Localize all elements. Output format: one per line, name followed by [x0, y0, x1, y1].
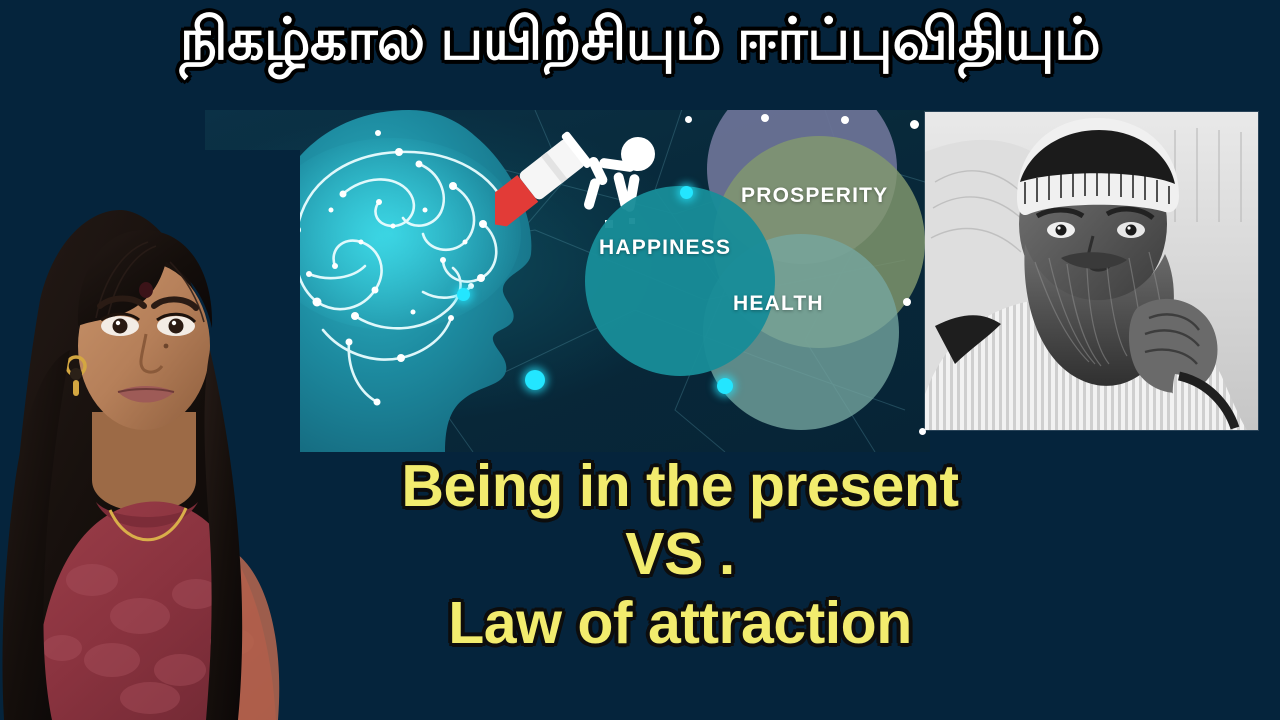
glow-dot [375, 130, 381, 136]
caption-line-3: Law of attraction [230, 589, 1130, 657]
illustration-panel: PROSPERITY HAPPINESS HEALTH [205, 110, 930, 452]
venn-label-happiness: HAPPINESS [599, 236, 731, 260]
venn-circle-happiness [585, 186, 775, 376]
venn-diagram: PROSPERITY HAPPINESS HEALTH [585, 110, 930, 452]
glow-dot [680, 186, 693, 199]
glow-dot [525, 370, 545, 390]
youtube-thumbnail: PROSPERITY HAPPINESS HEALTH [0, 0, 1280, 720]
glow-dot [457, 288, 470, 301]
osho-portrait-photo [925, 112, 1258, 430]
page-title-tamil: நிகழ்கால பயிற்சியும் ஈர்ப்புவிதியும் [0, 8, 1280, 72]
portrait-image [925, 112, 1258, 430]
glow-dot [761, 114, 769, 122]
venn-label-prosperity: PROSPERITY [741, 184, 888, 208]
venn-label-health: HEALTH [733, 292, 824, 316]
glow-dot [903, 298, 911, 306]
caption-line-1: Being in the present [230, 452, 1130, 520]
caption-block: Being in the present VS . Law of attract… [230, 452, 1130, 657]
glow-dot [841, 116, 849, 124]
caption-line-2: VS . [230, 520, 1130, 588]
glow-dot [717, 378, 733, 394]
glow-dot [685, 116, 692, 123]
glow-dot [910, 120, 919, 129]
